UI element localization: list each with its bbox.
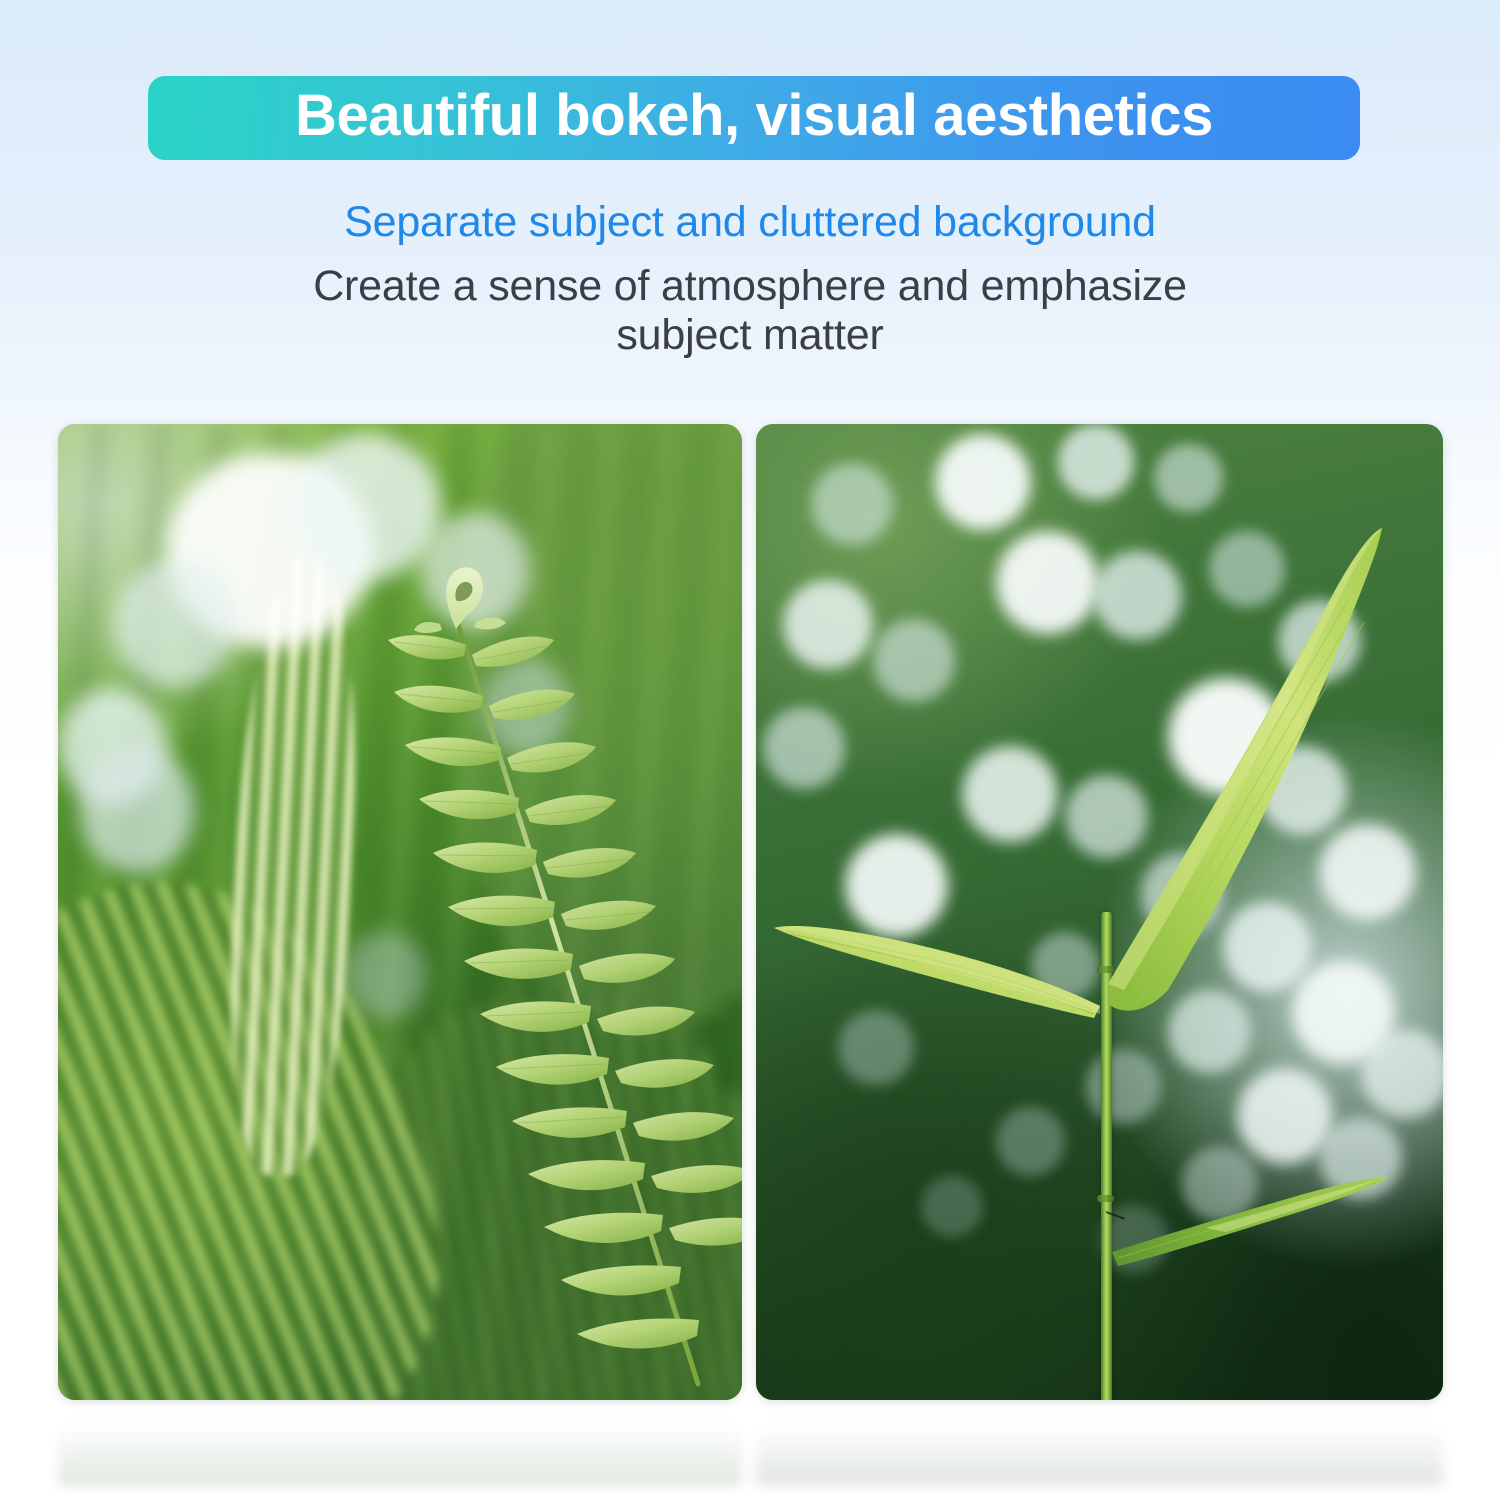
frond-tip [414, 567, 506, 633]
title-banner: Beautiful bokeh, visual aesthetics [148, 76, 1360, 160]
photo-reflection-left [58, 1400, 742, 1486]
bamboo-leaves [756, 424, 1443, 1400]
bamboo-leaf-lower [1112, 1178, 1388, 1266]
bamboo-leaf-main [1108, 528, 1382, 1011]
description-text: Create a sense of atmosphere and emphasi… [255, 262, 1245, 361]
photo-gallery [0, 424, 1500, 1404]
photo-reflection-right [756, 1400, 1443, 1486]
header: Beautiful bokeh, visual aesthetics Separ… [0, 0, 1500, 400]
fern-frond-subject [58, 424, 742, 1400]
page-title: Beautiful bokeh, visual aesthetics [295, 87, 1213, 149]
photo-fern-frond-macro[interactable] [58, 424, 742, 1400]
subtitle: Separate subject and cluttered backgroun… [0, 198, 1500, 246]
photo-bamboo-shoot-bokeh[interactable] [756, 424, 1443, 1400]
bamboo-leaf-left [774, 926, 1100, 1018]
frond-pinnae-right [472, 636, 742, 1245]
